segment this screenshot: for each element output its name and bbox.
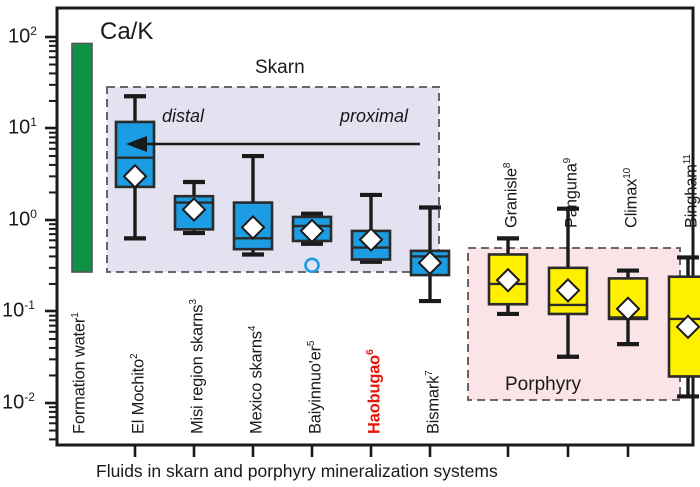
box-formation-water (72, 43, 92, 272)
category-label-baiyinnuoer: Baiyinnuo'er5 (306, 341, 326, 434)
category-label-el-mochito: El Mochito2 (129, 354, 149, 434)
category-label-bingham: Bingham11 (682, 154, 700, 228)
category-label-haobugao: Haobugao6 (365, 350, 385, 434)
box-bingham (669, 257, 700, 396)
figure-caption: Fluids in skarn and porphyry mineralizat… (96, 461, 498, 482)
ytick-label-1e-2: 10-2 (2, 390, 35, 415)
formation-water-range-bar (72, 43, 92, 272)
group-title-porphyry: Porphyry (505, 374, 581, 396)
category-label-mexico-skarns: Mexico skarns4 (247, 326, 267, 434)
ytick-label-1e-1: 10-1 (2, 298, 35, 323)
category-label-granisle: Granisle8 (502, 163, 522, 228)
annotation-distal: distal (162, 106, 204, 127)
ytick-label-1e1: 101 (8, 115, 37, 140)
category-label-formation-water: Formation water1 (70, 312, 90, 434)
ytick-label-1e2: 102 (8, 24, 37, 49)
annotation-proximal: proximal (340, 106, 408, 127)
box-plot-figure (0, 0, 700, 487)
axis-title-cak: Ca/K (100, 18, 153, 46)
category-label-bismark: Bismark7 (424, 370, 444, 434)
group-title-skarn: Skarn (255, 57, 305, 79)
x-axis-ticks (135, 445, 628, 457)
category-label-panguna: Panguna9 (562, 158, 582, 228)
category-label-misi-region-skarns: Misi region skarns3 (188, 299, 208, 434)
ytick-label-1e0: 100 (8, 207, 37, 232)
category-label-climax: Climax10 (622, 168, 642, 228)
